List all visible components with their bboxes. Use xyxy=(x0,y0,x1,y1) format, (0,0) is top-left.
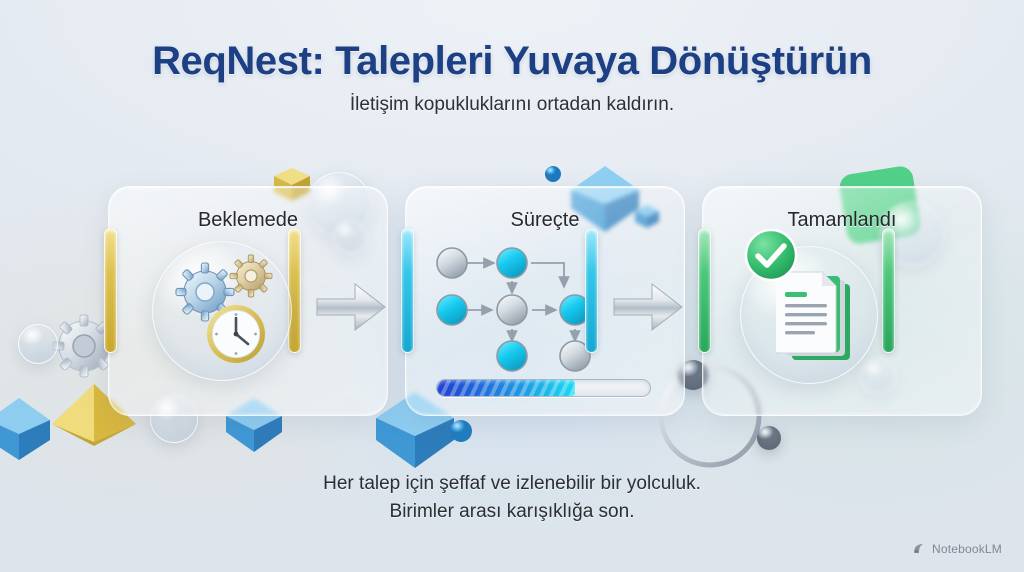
progress-bar-in-progress xyxy=(436,379,651,397)
dot-icon-blue xyxy=(545,166,561,182)
page-subtitle: İletişim kopukluklarını ortadan kaldırın… xyxy=(0,94,1024,116)
chrome-arrow-right-1 xyxy=(315,280,387,334)
pipeline-stage: Beklemede xyxy=(0,168,1024,448)
stage-label-pending: Beklemede xyxy=(109,209,387,232)
footer-text: Her talep için şeffaf ve izlenebilir bir… xyxy=(0,470,1024,525)
chrome-arrow-right-2 xyxy=(612,280,684,334)
accent-bar-in-progress-left xyxy=(401,228,414,353)
clock-icon xyxy=(205,303,267,365)
stage-label-in-progress: Süreçte xyxy=(406,209,684,232)
accent-bar-completed-left xyxy=(698,228,711,353)
watermark-label: NotebookLM xyxy=(932,542,1002,556)
accent-bar-completed-right xyxy=(882,228,895,353)
watermark: NotebookLM xyxy=(912,542,1002,556)
accent-bar-pending-right xyxy=(288,228,301,353)
check-circle-icon xyxy=(744,228,798,282)
gear-icon-gold-small xyxy=(228,253,274,299)
accent-bar-in-progress-right xyxy=(585,228,598,353)
metal-sphere-icon-2 xyxy=(757,426,781,450)
footer-line-2: Birimler arası karışıklığa son. xyxy=(0,498,1024,526)
notebooklm-logo-icon xyxy=(912,542,926,556)
accent-bar-pending-left xyxy=(104,228,117,353)
octahedron-icon-blue-left xyxy=(0,396,54,462)
dot-icon-blue-2 xyxy=(450,420,472,442)
glass-sphere-decorative-4 xyxy=(18,324,58,364)
page-title: ReqNest: Talepleri Yuvaya Dönüştürün xyxy=(0,40,1024,82)
footer-line-1: Her talep için şeffaf ve izlenebilir bir… xyxy=(0,470,1024,498)
document-stack-icon xyxy=(776,270,862,370)
header: ReqNest: Talepleri Yuvaya Dönüştürün İle… xyxy=(0,40,1024,116)
progress-bar-fill xyxy=(437,380,575,396)
